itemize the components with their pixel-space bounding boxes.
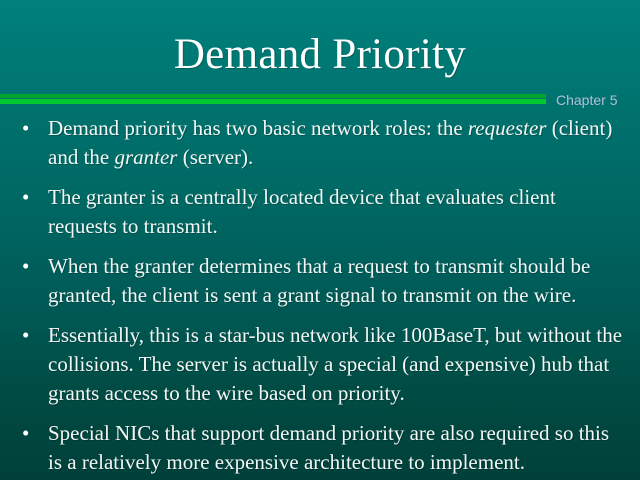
list-item-text: Demand priority has two basic network ro… — [48, 114, 626, 172]
list-item-text: Essentially, this is a star-bus network … — [48, 321, 626, 408]
list-item: •The granter is a centrally located devi… — [0, 183, 640, 241]
presentation-slide: Demand Priority Chapter 5 •Demand priori… — [0, 0, 640, 480]
list-item-text: Special NICs that support demand priorit… — [48, 419, 626, 477]
emphasized-term: granter — [114, 145, 177, 169]
text-run: The granter is a centrally located devic… — [48, 185, 556, 238]
list-item-text: When the granter determines that a reque… — [48, 252, 626, 310]
text-run: When the granter determines that a reque… — [48, 254, 590, 307]
header-rule-row: Chapter 5 — [0, 92, 640, 114]
title-block: Demand Priority — [0, 30, 640, 80]
list-item: •Special NICs that support demand priori… — [0, 419, 640, 477]
emphasized-term: requester — [468, 116, 547, 140]
bullet-list: •Demand priority has two basic network r… — [0, 114, 640, 480]
list-item: •Essentially, this is a star-bus network… — [0, 321, 640, 408]
bullet-dot-icon: • — [22, 114, 36, 143]
bullet-dot-icon: • — [22, 321, 36, 350]
green-divider-rule — [0, 94, 546, 104]
text-run: (server). — [177, 145, 253, 169]
list-item: •Demand priority has two basic network r… — [0, 114, 640, 172]
divider-band-lower — [0, 99, 546, 104]
bullet-dot-icon: • — [22, 252, 36, 281]
bullet-dot-icon: • — [22, 183, 36, 212]
page-title: Demand Priority — [0, 30, 640, 80]
text-run: Essentially, this is a star-bus network … — [48, 323, 622, 405]
text-run: Special NICs that support demand priorit… — [48, 421, 609, 474]
list-item-text: The granter is a centrally located devic… — [48, 183, 626, 241]
list-item: •When the granter determines that a requ… — [0, 252, 640, 310]
bullet-dot-icon: • — [22, 419, 36, 448]
chapter-label: Chapter 5 — [556, 92, 617, 108]
text-run: Demand priority has two basic network ro… — [48, 116, 468, 140]
